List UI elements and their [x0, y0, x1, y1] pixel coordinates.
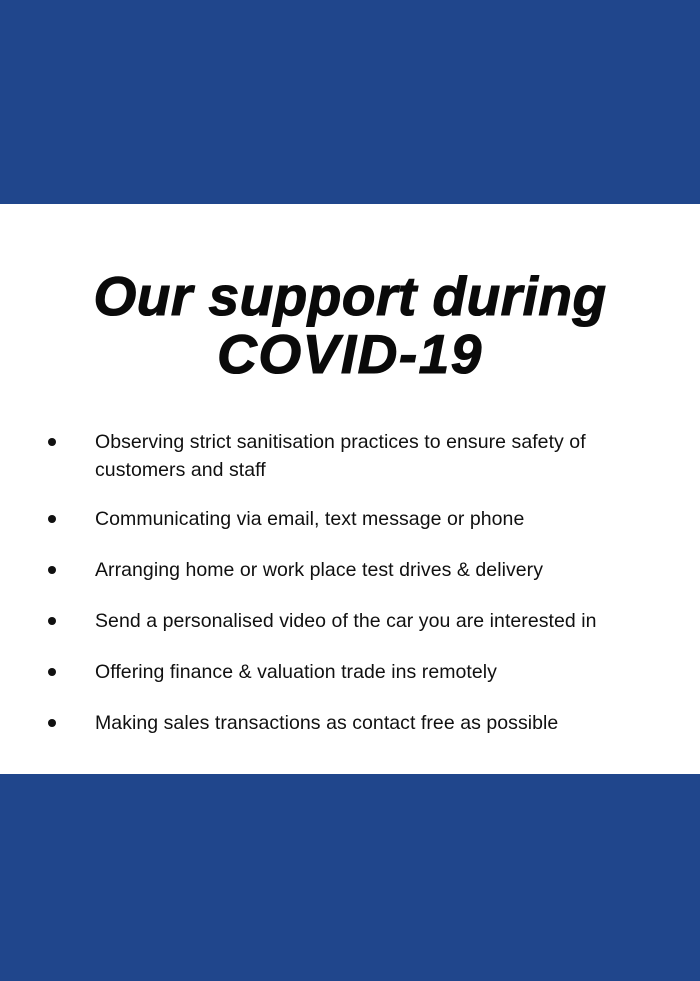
- list-item-label: Observing strict sanitisation practices …: [95, 428, 665, 484]
- support-measures-list: Observing strict sanitisation practices …: [40, 428, 665, 737]
- list-item: Offering finance & valuation trade ins r…: [40, 658, 665, 686]
- top-blue-band: [0, 0, 700, 204]
- page-title-line-2: COVID-19: [0, 325, 700, 383]
- bullet-dot-icon: [48, 438, 56, 446]
- page-title-line-1: Our support during: [0, 267, 700, 325]
- list-item-label: Arranging home or work place test drives…: [95, 556, 665, 584]
- list-item: Making sales transactions as contact fre…: [40, 709, 665, 737]
- list-item: Send a personalised video of the car you…: [40, 607, 665, 635]
- list-item-label: Making sales transactions as contact fre…: [95, 709, 665, 737]
- list-item: Communicating via email, text message or…: [40, 505, 665, 533]
- page-title: Our support during COVID-19: [0, 267, 700, 383]
- bullet-dot-icon: [48, 515, 56, 523]
- list-item: Arranging home or work place test drives…: [40, 556, 665, 584]
- bullet-dot-icon: [48, 668, 56, 676]
- list-item-label: Send a personalised video of the car you…: [95, 607, 665, 635]
- list-item-label: Offering finance & valuation trade ins r…: [95, 658, 665, 686]
- list-item: Observing strict sanitisation practices …: [40, 428, 665, 484]
- bullet-dot-icon: [48, 719, 56, 727]
- list-item-label: Communicating via email, text message or…: [95, 505, 665, 533]
- bottom-blue-band: [0, 774, 700, 981]
- poster: Our support during COVID-19 Observing st…: [0, 0, 700, 981]
- bullet-dot-icon: [48, 566, 56, 574]
- content-area: Our support during COVID-19 Observing st…: [0, 204, 700, 774]
- bullet-dot-icon: [48, 617, 56, 625]
